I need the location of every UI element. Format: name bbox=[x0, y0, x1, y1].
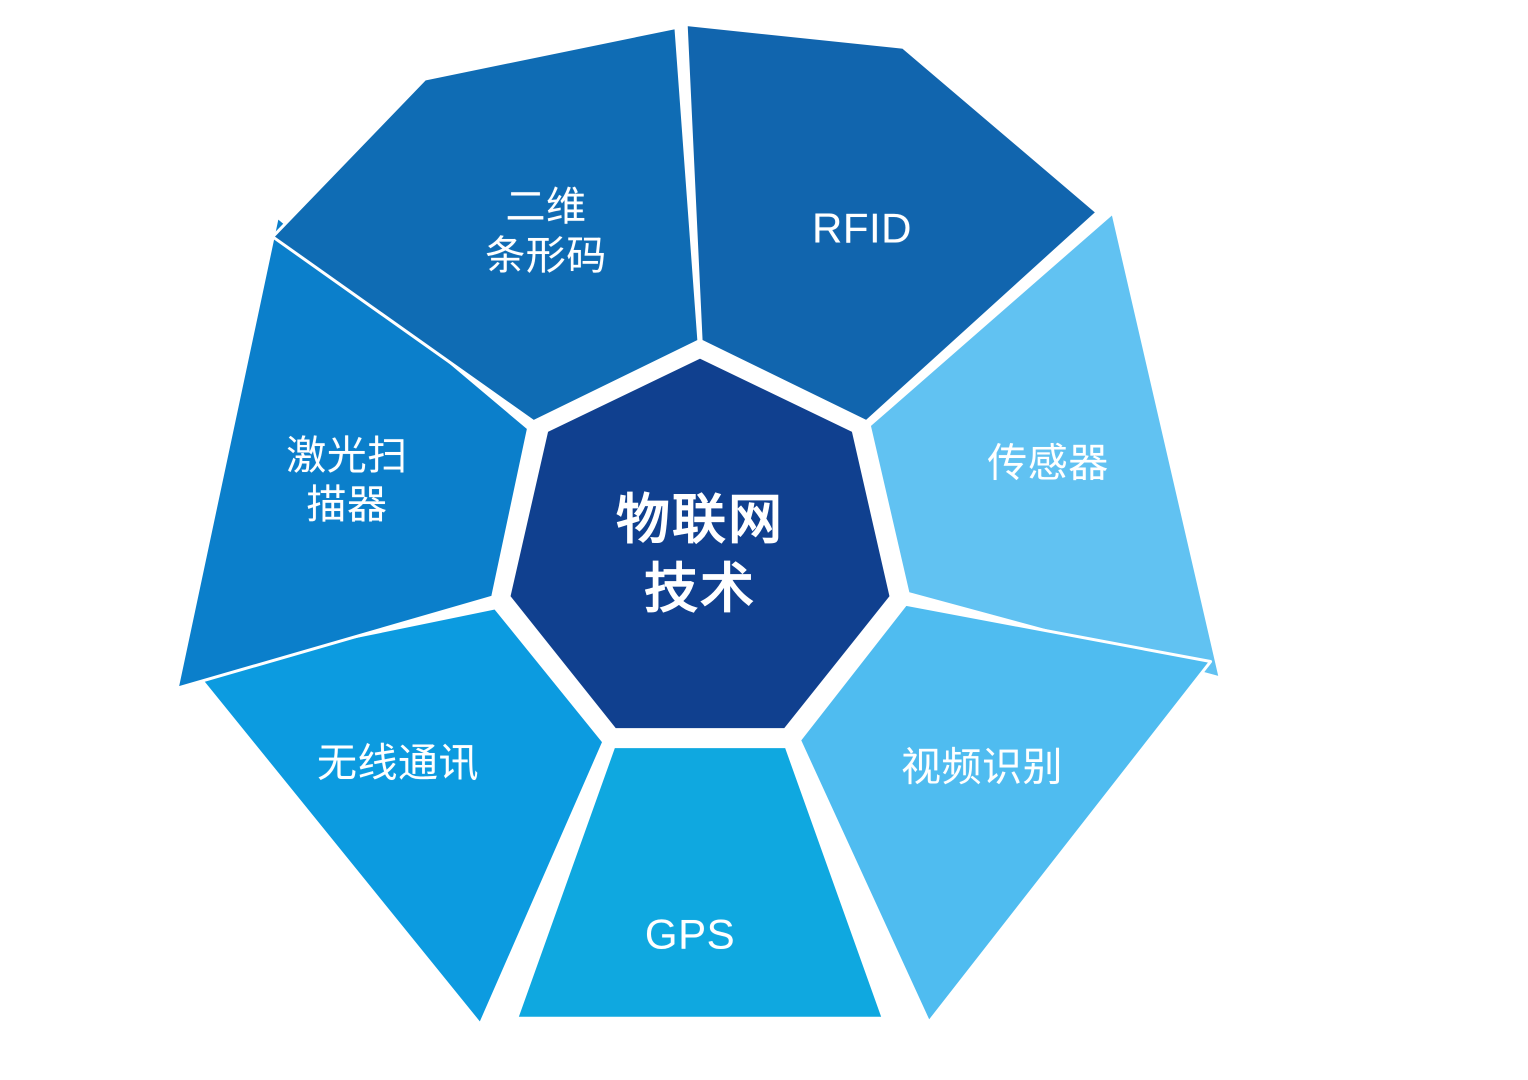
hub-layer bbox=[509, 357, 891, 730]
iot-technology-wheel-diagram: RFID传感器视频识别GPS无线通讯激光扫 描器二维 条形码物联网 技术 bbox=[0, 0, 1528, 1080]
wheel-svg bbox=[0, 0, 1528, 1080]
center-hub[interactable] bbox=[509, 357, 891, 730]
